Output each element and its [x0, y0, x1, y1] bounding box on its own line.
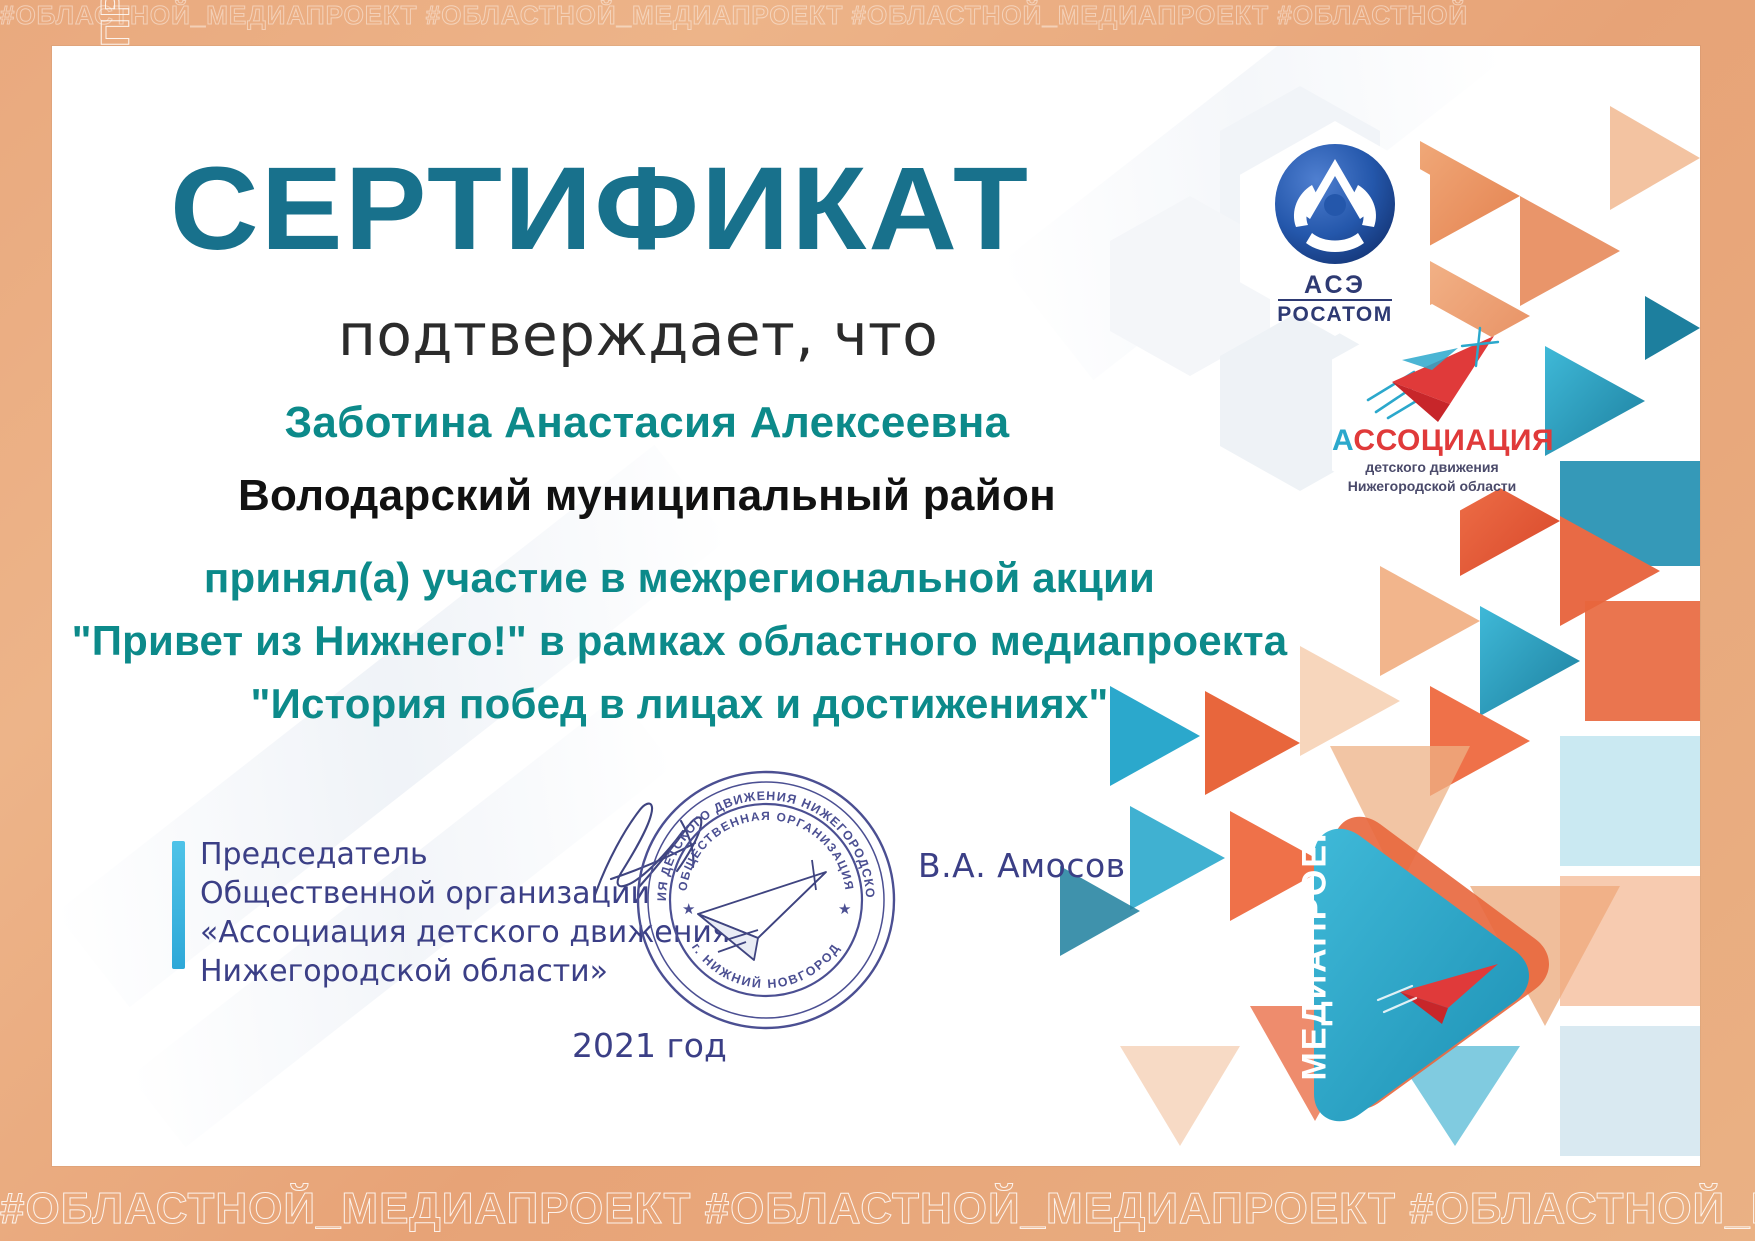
svg-text:АССОЦИАЦИЯ ДЕТСКОГО ДВИЖЕНИЯ Н: АССОЦИАЦИЯ ДЕТСКОГО ДВИЖЕНИЯ НИЖЕГОРОДСК… — [630, 764, 877, 901]
official-stamp: АССОЦИАЦИЯ ДЕТСКОГО ДВИЖЕНИЯ НИЖЕГОРОДСК… — [630, 764, 902, 1036]
signature-accent-bar — [172, 841, 185, 969]
page-title: СЕРТИФИКАТ — [170, 150, 1030, 268]
stamp-city-text: г. НИЖНИЙ НОВГОРОД — [689, 940, 843, 991]
rosatom-atom-icon — [1272, 141, 1398, 267]
svg-text:★: ★ — [682, 901, 695, 918]
body-line-1: принял(а) участие в межрегиональной акци… — [52, 554, 1307, 602]
stamp-paper-plane-icon — [698, 860, 826, 960]
certificate-card: СЕРТИФИКАТ подтверждает, что Заботина Ан… — [52, 46, 1700, 1166]
watermark-band-bottom: #ОБЛАСТНОЙ_МЕДИАПРОЕКТ #ОБЛАСТНОЙ_МЕДИАП… — [0, 1181, 1755, 1237]
rosatom-abbrev: АСЭ — [1240, 271, 1430, 300]
rosatom-divider — [1278, 299, 1392, 301]
media-badge-label: МЕДИАПРОЕКТ — [1296, 831, 1335, 1081]
certificate-page: #ОБЛАСТНОЙ_МЕДИАПРОЕКТ #ОБЛАСТНОЙ_МЕДИАП… — [0, 0, 1755, 1241]
signer-name: В.А. Амосов — [918, 846, 1126, 885]
recipient-organization: Володарский муниципальный район — [52, 471, 1242, 521]
association-subtitle-1: детского движения — [1332, 459, 1532, 475]
watermark-band-top: #ОБЛАСТНОЙ_МЕДИАПРОЕКТ #ОБЛАСТНОЙ_МЕДИАП… — [0, 0, 1755, 30]
association-title: АССОЦИАЦИЯ — [1332, 424, 1532, 458]
svg-text:★: ★ — [838, 901, 851, 918]
association-paper-plane-icon — [1362, 326, 1508, 422]
certificate-subtitle: подтверждает, что — [338, 301, 938, 369]
svg-text:г. НИЖНИЙ НОВГОРОД: г. НИЖНИЙ НОВГОРОД — [689, 940, 843, 991]
association-title-rest: ССОЦИАЦИЯ — [1353, 424, 1554, 457]
stamp-outer-text: АССОЦИАЦИЯ ДЕТСКОГО ДВИЖЕНИЯ НИЖЕГОРОДСК… — [630, 764, 877, 901]
recipient-name: Заботина Анастасия Алексеевна — [52, 398, 1242, 448]
body-line-2: "Привет из Нижнего!" в рамках областного… — [52, 617, 1307, 665]
media-project-badge: МЕДИАПРОЕКТ — [1252, 796, 1552, 1126]
body-line-3: "История побед в лицах и достижениях" — [52, 680, 1307, 728]
association-subtitle-2: Нижегородской области — [1332, 478, 1532, 494]
association-logo: АССОЦИАЦИЯ детского движения Нижегородск… — [1332, 304, 1532, 526]
association-title-a: А — [1332, 424, 1353, 457]
